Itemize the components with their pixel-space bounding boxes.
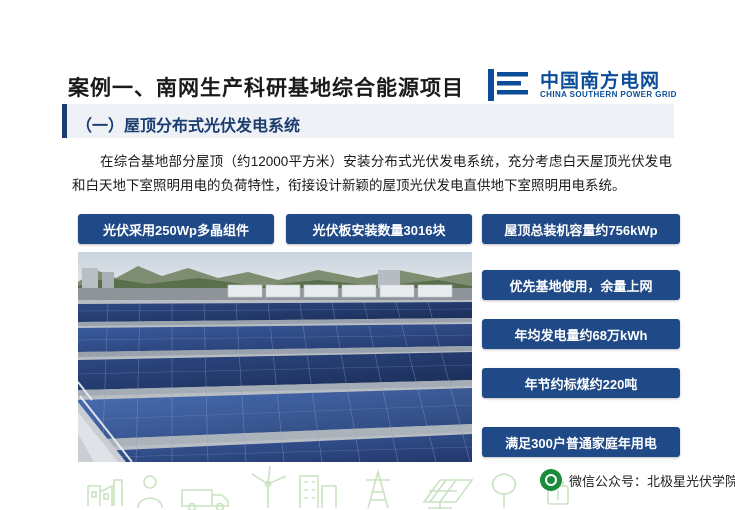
callout-tag-household-supply: 满足300户普通家庭年用电	[482, 427, 680, 457]
footer-brand: 微信公众号：北极星光伏学院	[540, 466, 720, 494]
page-title: 案例一、南网生产科研基地综合能源项目	[68, 72, 464, 102]
callout-tag-coal-saving: 年节约标煤约220吨	[482, 368, 680, 398]
brand-logo: 中国南方电网 CHINA SOUTHERN POWER GRID	[488, 66, 678, 106]
section-title: （一）屋顶分布式光伏发电系统	[76, 112, 300, 136]
callout-tag-total-capacity: 屋顶总装机容量约756kWp	[482, 214, 680, 244]
logo-text-chinese: 中国南方电网	[540, 66, 660, 93]
photo-illustration	[78, 252, 472, 462]
green-circle-logo-icon	[540, 469, 562, 491]
callout-tag-pv-module: 光伏采用250Wp多晶组件	[78, 214, 274, 244]
footer-brand-text: 微信公众号：北极星光伏学院	[569, 471, 735, 490]
southern-power-grid-logo-icon	[488, 68, 528, 102]
slide-header: 案例一、南网生产科研基地综合能源项目 中国南方电网 CHINA SOUTHERN…	[0, 28, 735, 90]
body-paragraph: 在综合基地部分屋顶（约12000平方米）安装分布式光伏发电系统，充分考虑白天屋顶…	[72, 150, 672, 198]
callout-tag-annual-generation: 年均发电量约68万kWh	[482, 319, 680, 349]
callout-tag-panel-count: 光伏板安装数量3016块	[286, 214, 472, 244]
logo-text-english: CHINA SOUTHERN POWER GRID	[540, 90, 677, 99]
slide-root: 案例一、南网生产科研基地综合能源项目 中国南方电网 CHINA SOUTHERN…	[0, 0, 735, 510]
section-accent-bar	[62, 104, 67, 138]
callout-tag-usage-priority: 优先基地使用，余量上网	[482, 270, 680, 300]
rooftop-solar-panel-array-photo	[78, 252, 472, 462]
